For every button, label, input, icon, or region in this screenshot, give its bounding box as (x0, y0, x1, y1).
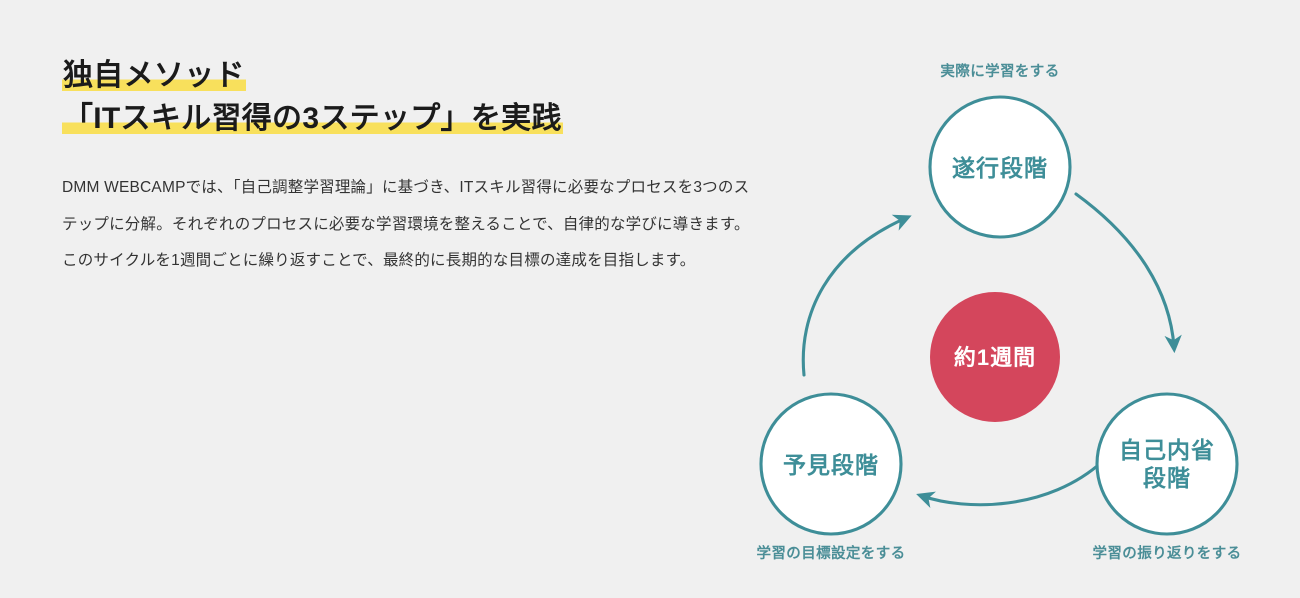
node-circle-center-duration (930, 292, 1060, 422)
page-title-line-2: 「ITスキル習得の3ステップ」を実践 (62, 98, 762, 141)
node-circle-forethought[interactable] (761, 394, 901, 534)
page-title-line-1-text: 独自メソッド (62, 59, 246, 92)
page-title-line-2-text: 「ITスキル習得の3ステップ」を実践 (62, 102, 563, 135)
page-title: 独自メソッド 「ITスキル習得の3ステップ」を実践 (62, 55, 762, 140)
arrow-forethought-to-execution (803, 218, 906, 375)
node-circle-execution[interactable] (930, 97, 1070, 237)
page-title-line-1: 独自メソッド (62, 55, 762, 98)
caption-forethought: 学習の目標設定をする (731, 542, 931, 563)
page-root: { "page": { "background_color": "#F0F0F0… (0, 0, 1300, 598)
cycle-diagram-svg (718, 24, 1288, 584)
arrow-execution-to-reflection (1076, 194, 1174, 347)
intro-paragraph: DMM WEBCAMPでは、「自己調整学習理論」に基づき、ITスキル習得に必要な… (62, 170, 752, 279)
learning-cycle-diagram: 遂行段階 自己内省 段階 予見段階 約1週間 実際に学習をする 学習の振り返りを… (718, 24, 1288, 584)
caption-self-reflection: 学習の振り返りをする (1057, 542, 1277, 563)
arrow-reflection-to-forethought (922, 461, 1103, 505)
caption-execution: 実際に学習をする (900, 60, 1100, 81)
intro-text-column: 独自メソッド 「ITスキル習得の3ステップ」を実践 DMM WEBCAMPでは、… (62, 55, 762, 279)
node-circle-self-reflection[interactable] (1097, 394, 1237, 534)
